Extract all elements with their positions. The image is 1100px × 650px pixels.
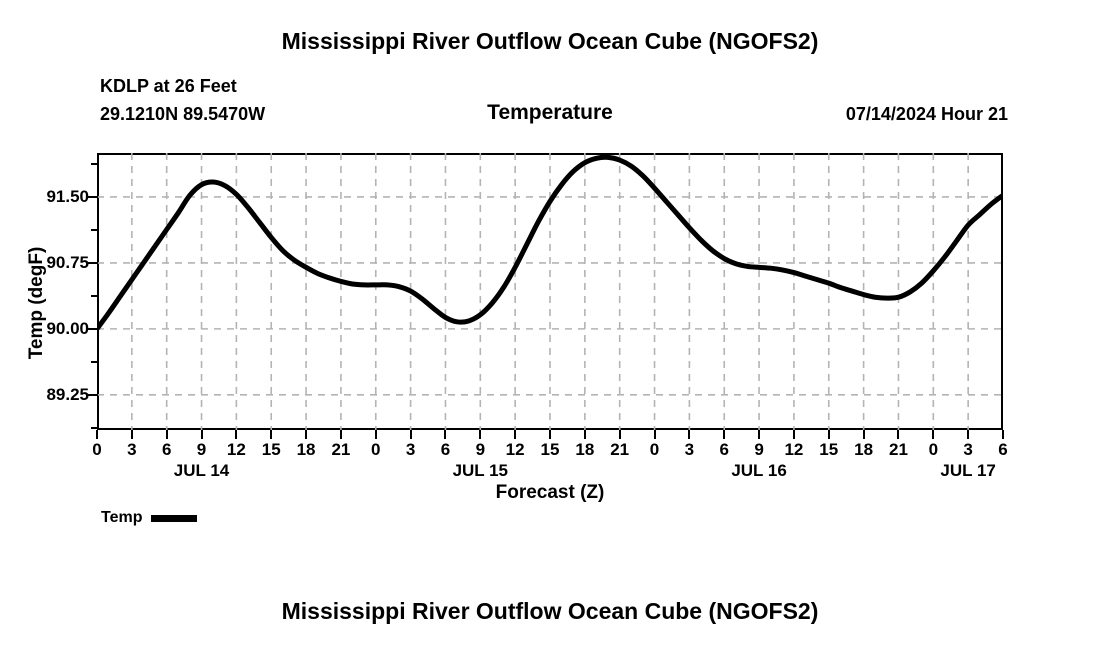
forecast-datetime-label: 07/14/2024 Hour 21 (846, 104, 1008, 125)
y-tick-minor-mark (91, 427, 98, 429)
plot-area (97, 153, 1003, 430)
x-axis-day-label: JUL 14 (142, 461, 262, 481)
x-tick-mark (619, 430, 621, 439)
x-tick-mark (375, 430, 377, 439)
x-tick-mark (793, 430, 795, 439)
x-tick-mark (897, 430, 899, 439)
page-title-bottom: Mississippi River Outflow Ocean Cube (NG… (0, 598, 1100, 625)
legend: Temp (101, 509, 197, 527)
x-tick-mark (479, 430, 481, 439)
x-tick-mark (758, 430, 760, 439)
y-tick-mark (88, 262, 98, 264)
x-tick-mark (444, 430, 446, 439)
y-tick-minor-mark (91, 295, 98, 297)
y-tick-mark (88, 196, 98, 198)
y-tick-mark (88, 394, 98, 396)
temperature-series-line (97, 153, 1003, 430)
y-axis-title: Temp (degF) (26, 193, 48, 413)
x-tick-mark (863, 430, 865, 439)
x-axis-day-label: JUL 15 (420, 461, 540, 481)
x-tick-mark (828, 430, 830, 439)
x-axis-day-label: JUL 16 (699, 461, 819, 481)
x-tick-mark (723, 430, 725, 439)
x-tick-mark (166, 430, 168, 439)
x-tick-mark (688, 430, 690, 439)
y-tick-minor-mark (91, 163, 98, 165)
x-tick-mark (549, 430, 551, 439)
x-tick-mark (932, 430, 934, 439)
y-tick-mark (88, 328, 98, 330)
y-tick-minor-mark (91, 361, 98, 363)
station-depth-label: KDLP at 26 Feet (100, 76, 237, 97)
x-tick-mark (584, 430, 586, 439)
x-tick-mark (514, 430, 516, 439)
x-tick-mark (1002, 430, 1004, 439)
x-tick-mark (340, 430, 342, 439)
chart-page: Mississippi River Outflow Ocean Cube (NG… (0, 0, 1100, 650)
x-tick-label: 6 (983, 440, 1023, 460)
page-title-top: Mississippi River Outflow Ocean Cube (NG… (0, 28, 1100, 55)
x-tick-mark (270, 430, 272, 439)
x-tick-mark (967, 430, 969, 439)
y-tick-minor-mark (91, 229, 98, 231)
x-tick-mark (410, 430, 412, 439)
x-tick-mark (201, 430, 203, 439)
legend-swatch-temp (151, 515, 197, 522)
x-axis-day-label: JUL 17 (908, 461, 1028, 481)
x-tick-mark (654, 430, 656, 439)
x-tick-mark (96, 430, 98, 439)
x-tick-mark (131, 430, 133, 439)
x-tick-mark (305, 430, 307, 439)
x-axis-title: Forecast (Z) (0, 482, 1100, 504)
x-tick-mark (235, 430, 237, 439)
legend-label-temp: Temp (101, 509, 142, 527)
